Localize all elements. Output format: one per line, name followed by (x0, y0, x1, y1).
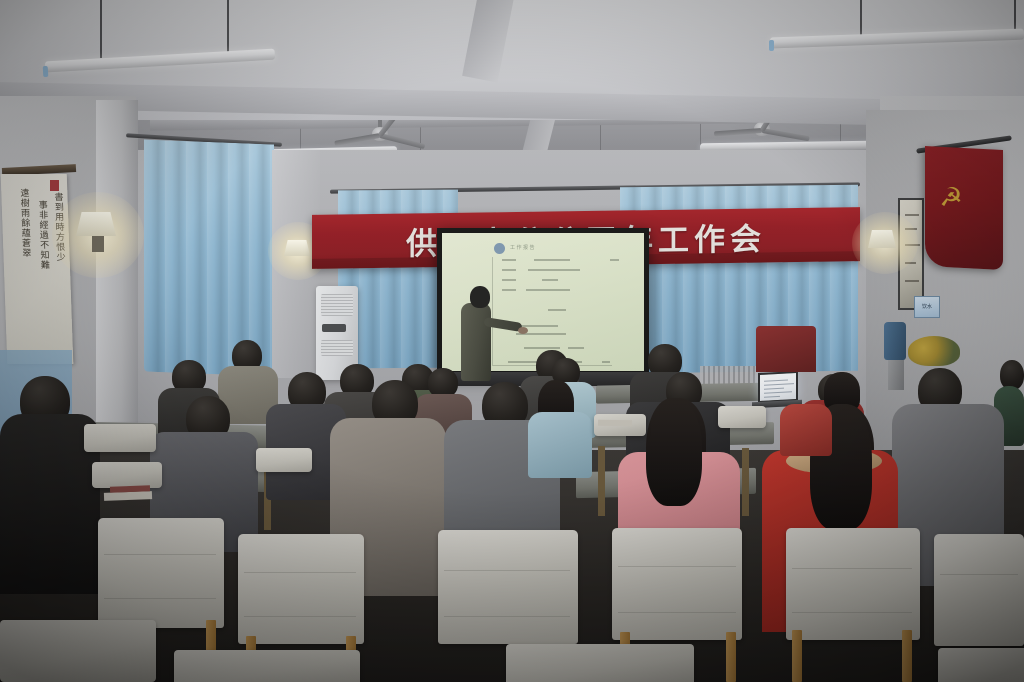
slide-text-line (610, 259, 619, 261)
chair-fold (104, 598, 216, 599)
slide-text-line (526, 289, 570, 291)
chair-seat-cushion (256, 448, 312, 472)
doc-text-line (905, 280, 919, 282)
slide-title: 工作报告 (510, 244, 536, 251)
slide-text-line (502, 269, 516, 271)
chair-seat-cushion (938, 648, 1024, 682)
chair-back-cover (786, 528, 920, 640)
desk-leg (598, 446, 605, 516)
chair-leg (726, 632, 736, 682)
slide-text-line (602, 361, 610, 363)
calligraphy-seal (50, 180, 59, 191)
chair-fold (444, 570, 570, 571)
slide-text-line (568, 347, 584, 349)
chair-seat-cushion (718, 406, 766, 428)
presenter-pointer-hand (518, 327, 528, 334)
chair-leg (792, 630, 802, 682)
chair-back-cover (612, 528, 742, 640)
chair-fold (244, 616, 356, 617)
slide-text-line (502, 279, 516, 281)
chair-seat-cushion (0, 620, 156, 682)
chair-fold (792, 612, 912, 613)
calligraphy-column: 事非經過不知難 (37, 200, 53, 342)
wall-sconce-arm-left (92, 236, 104, 252)
slide-text-line (542, 279, 558, 281)
wall-sconce-mid[interactable] (284, 240, 310, 256)
chair-fold (104, 554, 216, 555)
chair-back-cover (98, 518, 224, 628)
presenter-body (461, 303, 491, 381)
calligraphy-scroll: 書到用時方恨少 事非經過不知難 遠樹雨餘藴蒼翠 (1, 174, 74, 364)
chair-leg (902, 630, 912, 682)
chair-back-cover (934, 534, 1024, 646)
chair-seat-cushion (84, 424, 156, 452)
chair-fold (244, 572, 356, 573)
laptop-text-line (764, 383, 794, 386)
ac-control-panel[interactable] (322, 324, 346, 332)
ac-vent (321, 294, 353, 316)
presenter-laptop-screen[interactable] (758, 371, 798, 403)
chair-seat-cushion (506, 644, 694, 682)
yellow-flowers (908, 336, 960, 366)
water-dispenser-bottle (884, 322, 906, 360)
chair-fold (618, 566, 736, 567)
chair-back-cover (238, 534, 364, 644)
hammer-and-sickle-icon: ☭ (938, 180, 964, 214)
slide-text-line (508, 361, 538, 363)
doc-text-line (905, 214, 919, 216)
slide-rule (492, 257, 493, 365)
attendee-torso (528, 412, 592, 478)
chair-fold (444, 616, 570, 617)
ac-vent (321, 340, 353, 356)
wall-sconce-right[interactable] (868, 230, 896, 248)
wall-sconce-left[interactable] (76, 212, 116, 236)
laptop-text-line (764, 391, 792, 393)
chair-seat-cushion (174, 650, 360, 682)
slide-text-line (502, 289, 516, 291)
wall-notice-sign: 饮水 (914, 296, 940, 318)
chair-fold (792, 568, 912, 569)
slide-text-line (548, 309, 566, 311)
laptop-text-line (764, 379, 788, 381)
presenter-head (470, 286, 490, 308)
chair-back-cover (438, 530, 578, 644)
slide-text-line (502, 259, 516, 261)
chair-fold (940, 574, 1018, 575)
slide-text-line (534, 259, 570, 261)
water-dispenser-stand (888, 356, 904, 390)
chair-seat-cushion (92, 462, 162, 488)
laptop-text-line (764, 396, 780, 398)
attendee-hair-long (646, 398, 702, 506)
communist-party-flag (925, 146, 1003, 270)
speaker-table-cloth (756, 326, 816, 372)
conference-room-photo: 書到用時方恨少 事非經過不知難 遠樹雨餘藴蒼翠 供用电分公司年工作会 工作报告 (0, 0, 1024, 682)
calligraphy-column: 遠樹雨餘藴蒼翠 (18, 188, 34, 338)
attendee-torso (780, 404, 832, 456)
laptop-text-line (764, 388, 784, 390)
slide-text-line (528, 269, 580, 271)
slide-company-logo-icon (494, 243, 505, 254)
papers-on-desk (598, 420, 632, 427)
chair-fold (618, 612, 736, 613)
slide-text-line (524, 347, 560, 349)
desk-leg (742, 448, 749, 516)
